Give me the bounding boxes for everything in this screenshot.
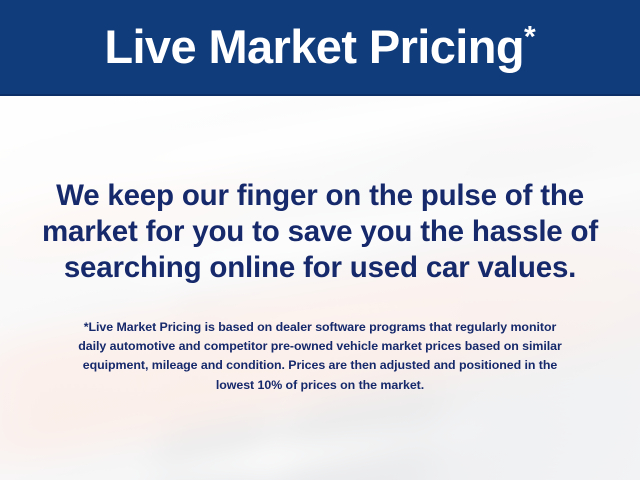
headline: We keep our finger on the pulse of the m… bbox=[24, 178, 616, 286]
disclaimer-line-4: lowest 10% of prices on the market. bbox=[24, 376, 616, 395]
disclaimer-footnote: *Live Market Pricing is based on dealer … bbox=[24, 318, 616, 395]
live-market-pricing-card: Live Market Pricing* We keep our finger … bbox=[0, 0, 640, 480]
headline-line-3: searching online for used car values. bbox=[24, 250, 616, 286]
header-banner: Live Market Pricing* bbox=[0, 0, 640, 96]
disclaimer-line-1: *Live Market Pricing is based on dealer … bbox=[24, 318, 616, 337]
banner-title: Live Market Pricing* bbox=[104, 23, 535, 70]
banner-title-text: Live Market Pricing bbox=[104, 20, 524, 73]
disclaimer-line-2: daily automotive and competitor pre-owne… bbox=[24, 337, 616, 356]
content-area: We keep our finger on the pulse of the m… bbox=[0, 96, 640, 480]
headline-line-1: We keep our finger on the pulse of the bbox=[24, 178, 616, 214]
headline-line-2: market for you to save you the hassle of bbox=[24, 214, 616, 250]
disclaimer-line-3: equipment, mileage and condition. Prices… bbox=[24, 356, 616, 375]
banner-title-asterisk: * bbox=[524, 20, 536, 53]
